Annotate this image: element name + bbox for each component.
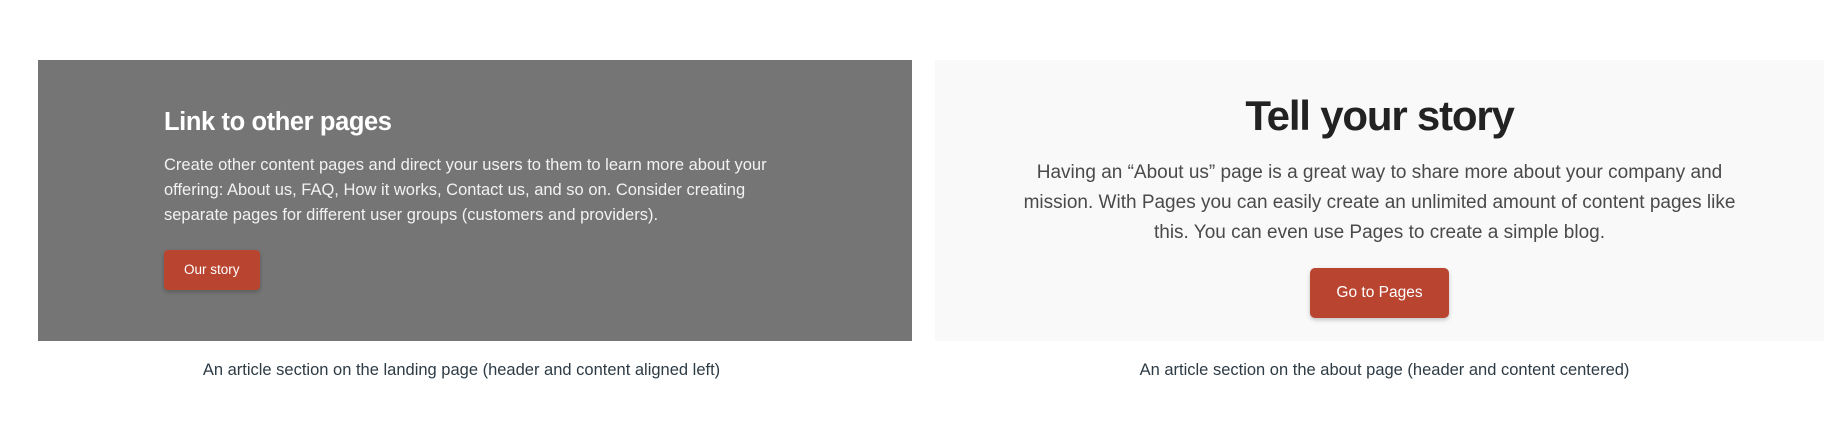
article-headline: Tell your story (935, 90, 1824, 142)
example-caption-about: An article section on the about page (he… (923, 358, 1846, 382)
example-about-page-article: Tell your story Having an “About us” pag… (923, 0, 1846, 430)
article-body-text: Create other content pages and direct yo… (164, 153, 794, 228)
example-landing-page-article: Link to other pages Create other content… (0, 0, 923, 430)
go-to-pages-button[interactable]: Go to Pages (1310, 268, 1448, 318)
article-headline: Link to other pages (164, 106, 912, 138)
our-story-button[interactable]: Our story (164, 250, 260, 290)
article-body-text: Having an “About us” page is a great way… (1005, 158, 1755, 248)
article-section-about: Tell your story Having an “About us” pag… (935, 60, 1824, 341)
example-caption-landing: An article section on the landing page (… (0, 358, 923, 382)
article-section-landing: Link to other pages Create other content… (38, 60, 912, 341)
examples-board: Link to other pages Create other content… (0, 0, 1846, 430)
